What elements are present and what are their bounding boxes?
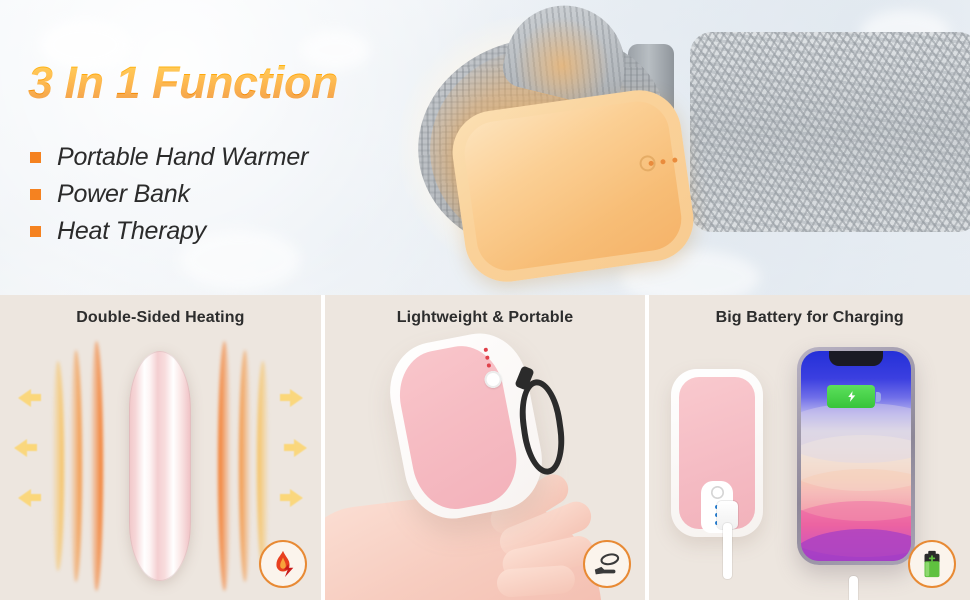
list-item: Heat Therapy xyxy=(30,214,308,248)
feature-label: Portable Hand Warmer xyxy=(57,143,308,172)
panel-big-battery: Big Battery for Charging xyxy=(649,295,970,600)
hero-product-photo xyxy=(370,0,970,295)
panel-double-sided-heating: Double-Sided Heating xyxy=(0,295,321,600)
feature-label: Heat Therapy xyxy=(57,217,206,246)
green-battery-icon xyxy=(908,540,956,588)
panel-title: Double-Sided Heating xyxy=(0,309,321,327)
flame-bolt-icon xyxy=(259,540,307,588)
charging-cable xyxy=(723,523,732,579)
hero-section: 3 In 1 Function Portable Hand Warmer Pow… xyxy=(0,0,970,295)
pink-power-bank xyxy=(671,369,763,537)
hand-holding-device-icon xyxy=(583,540,631,588)
panel-title: Big Battery for Charging xyxy=(649,309,970,327)
hand-warmer-surface xyxy=(392,339,525,516)
finger xyxy=(496,565,576,598)
square-bullet-icon xyxy=(30,189,41,200)
feature-list: Portable Hand Warmer Power Bank Heat The… xyxy=(30,140,308,251)
hand-warmer-side-view xyxy=(129,351,191,581)
fleece-sleeve xyxy=(690,32,970,232)
charging-battery-icon xyxy=(827,385,883,408)
phone-screen xyxy=(801,351,911,561)
smartphone xyxy=(797,347,915,565)
page-title: 3 In 1 Function xyxy=(28,57,338,109)
panel-title: Lightweight & Portable xyxy=(325,309,646,327)
feature-label: Power Bank xyxy=(57,180,190,209)
hand-warmer-heating-surface xyxy=(461,97,686,274)
feature-panels: Double-Sided Heating xyxy=(0,295,970,600)
hero-hand-warmer-device xyxy=(447,85,699,287)
product-infographic: 3 In 1 Function Portable Hand Warmer Pow… xyxy=(0,0,970,600)
panel-lightweight-portable: Lightweight & Portable xyxy=(325,295,646,600)
list-item: Power Bank xyxy=(30,177,308,211)
square-bullet-icon xyxy=(30,226,41,237)
list-item: Portable Hand Warmer xyxy=(30,140,308,174)
phone-notch xyxy=(829,351,883,366)
phone-charging-cable xyxy=(849,576,858,600)
square-bullet-icon xyxy=(30,152,41,163)
